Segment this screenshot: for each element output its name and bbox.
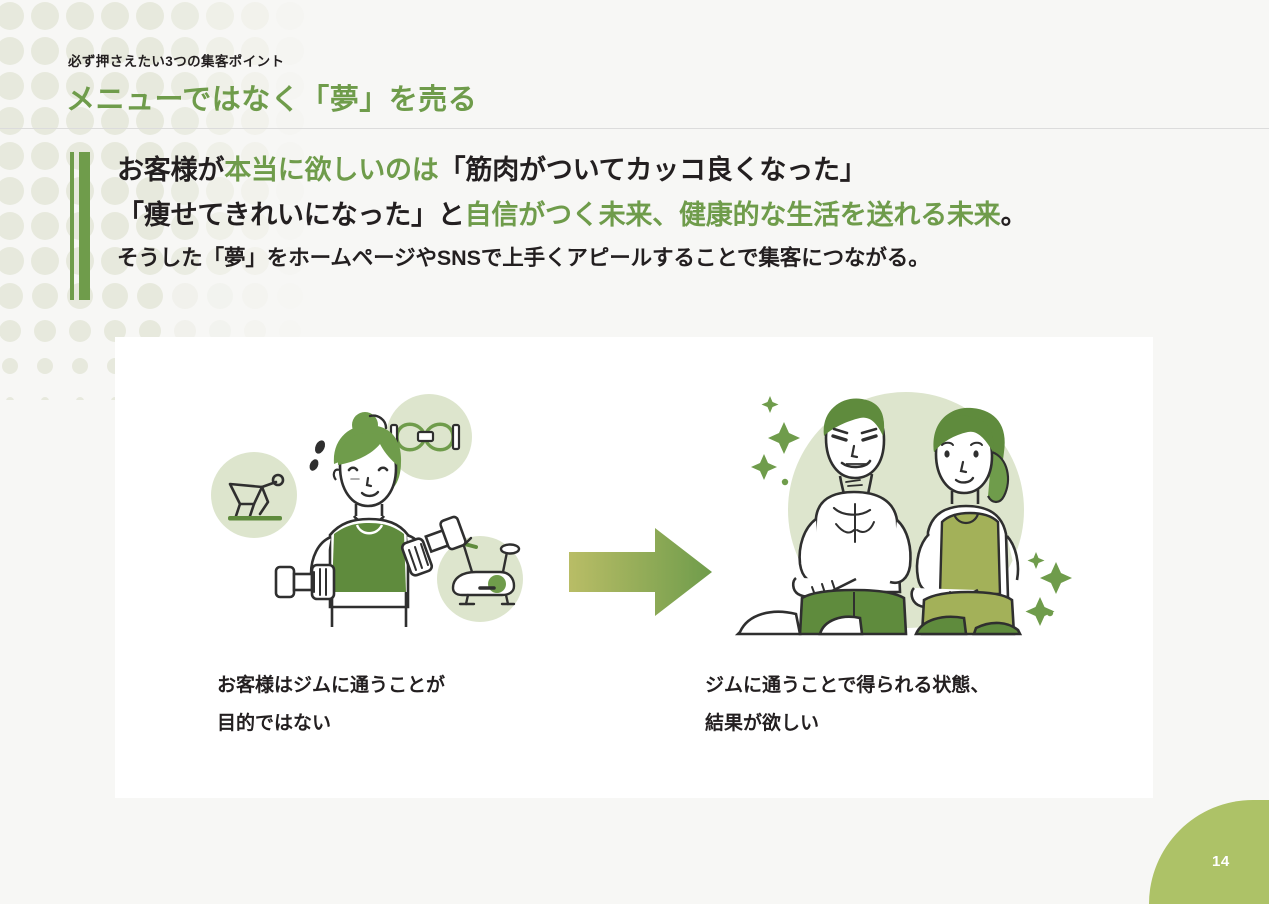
decorative-dot	[6, 397, 14, 400]
right-arrow	[567, 522, 717, 622]
bench-press-icon-circle	[211, 452, 297, 538]
decorative-dot	[34, 320, 56, 342]
caption-before: お客様はジムに通うことが 目的ではない	[217, 667, 445, 743]
text-run-2: 。	[1001, 200, 1028, 230]
caption-after-line2: 結果が欲しい	[705, 705, 989, 743]
decorative-dot	[0, 177, 24, 205]
header-divider	[0, 128, 1269, 129]
illustration-after	[720, 382, 1080, 642]
page-number: 14	[1212, 853, 1230, 870]
illustration-before	[210, 392, 540, 642]
accent-bar-thick	[79, 152, 90, 300]
decorative-dot	[31, 247, 59, 275]
page-title: メニューではなく「夢」を売る	[66, 76, 477, 118]
page-number-badge: 14	[1149, 800, 1269, 904]
decorative-dot	[32, 283, 58, 309]
text-run-0: そうした「夢」をホームページやSNSで上手くアピールすることで集客につながる。	[117, 246, 930, 270]
decorative-dot	[72, 358, 88, 374]
text-run-1: 本当に欲しいのは	[224, 155, 438, 185]
decorative-dot	[0, 142, 24, 170]
decorative-dot	[76, 397, 84, 400]
eyebrow-label: 必ず押さえたい3つの集客ポイント	[68, 50, 284, 70]
sparkles-left	[751, 396, 800, 485]
slide-header: 必ず押さえたい3つの集客ポイント メニューではなく「夢」を売る	[0, 0, 1269, 128]
decorative-dot	[37, 358, 53, 374]
text-run-2: 「筋肉がついてカッコ良くなった」	[439, 155, 867, 185]
caption-after-line1: ジムに通うことで得られる状態、	[705, 667, 989, 705]
bench-press-base	[228, 516, 282, 521]
decorative-dot	[31, 177, 59, 205]
caption-before-line1: お客様はジムに通うことが	[217, 667, 445, 705]
text-run-1: 自信がつく未来、健康的な生活を送れる未来	[465, 200, 1001, 230]
man-figure	[738, 399, 910, 634]
decorative-dot	[69, 320, 91, 342]
decorative-dot	[41, 397, 49, 400]
decorative-dot	[31, 212, 59, 240]
accent-bar-thin	[70, 152, 74, 300]
decorative-dot	[2, 358, 18, 374]
decorative-dot	[0, 283, 23, 309]
lead-text: お客様が本当に欲しいのは「筋肉がついてカッコ良くなった」 「痩せてきれいになった…	[117, 148, 1187, 278]
text-run-0: お客様が	[117, 155, 224, 185]
decorative-dot	[0, 247, 24, 275]
decorative-dot	[0, 212, 24, 240]
caption-before-line2: 目的ではない	[217, 705, 445, 743]
caption-after: ジムに通うことで得られる状態、 結果が欲しい	[705, 667, 989, 743]
lead-line-3: そうした「夢」をホームページやSNSで上手くアピールすることで集客につながる。	[117, 238, 1187, 278]
lead-block: お客様が本当に欲しいのは「筋肉がついてカッコ良くなった」 「痩せてきれいになった…	[70, 152, 1190, 302]
decorative-dot	[31, 142, 59, 170]
sparkles-right	[1026, 552, 1073, 626]
content-card: お客様はジムに通うことが 目的ではない ジムに通うことで得られる状態、 結果が欲…	[115, 337, 1153, 798]
lead-line-1: お客様が本当に欲しいのは「筋肉がついてカッコ良くなった」	[117, 148, 1187, 193]
text-run-0: 「痩せてきれいになった」と	[117, 200, 465, 230]
lead-line-2: 「痩せてきれいになった」と自信がつく未来、健康的な生活を送れる未来。	[117, 193, 1187, 238]
sweat-drops	[308, 439, 327, 472]
decorative-dot	[0, 320, 21, 342]
dumbbell-left	[276, 565, 334, 599]
